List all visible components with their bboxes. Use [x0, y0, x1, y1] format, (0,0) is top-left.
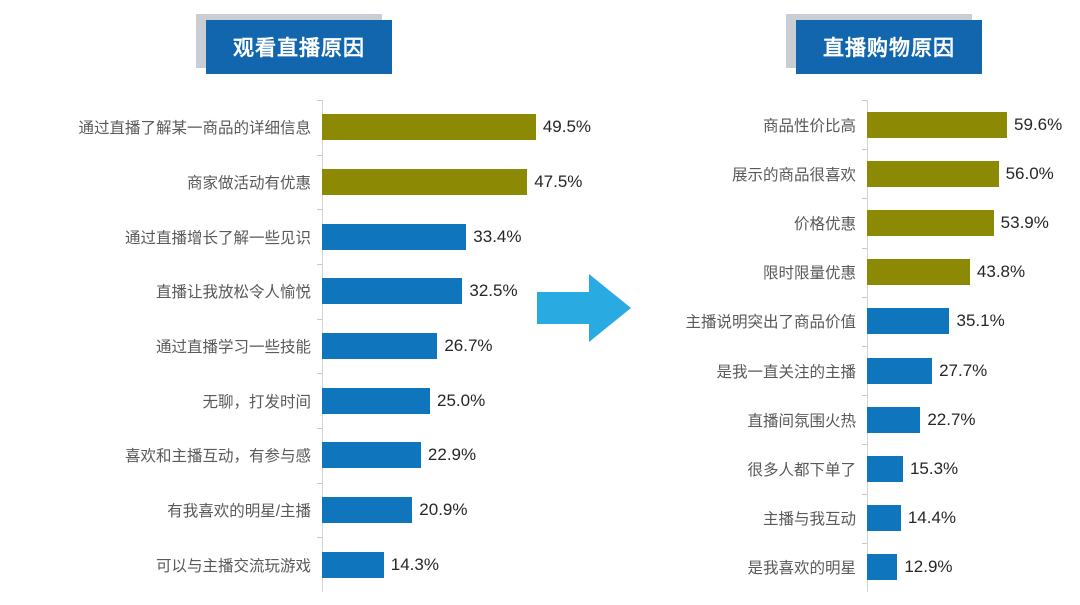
bar	[867, 308, 949, 334]
bar-row: 有我喜欢的明星/主播20.9%	[30, 483, 525, 538]
bar	[322, 497, 412, 523]
category-label: 直播让我放松令人愉悦	[30, 280, 322, 302]
bar-row: 可以与主播交流玩游戏14.3%	[30, 537, 525, 592]
left-title-box: 观看直播原因	[206, 20, 392, 74]
bar	[867, 358, 932, 384]
category-label: 通过直播学习一些技能	[30, 335, 322, 357]
bar-value-label: 27.7%	[939, 361, 987, 381]
bar-value-label: 14.4%	[908, 508, 956, 528]
category-label: 可以与主播交流玩游戏	[30, 554, 322, 576]
bar-track: 27.7%	[867, 346, 1065, 395]
bar-value-label: 53.9%	[1001, 213, 1049, 233]
bar-track: 43.8%	[867, 248, 1065, 297]
category-label: 商家做活动有优惠	[30, 171, 322, 193]
left-plot-area: 通过直播了解某一商品的详细信息49.5%商家做活动有优惠47.5%通过直播增长了…	[30, 100, 525, 592]
left-title-text: 观看直播原因	[233, 32, 365, 62]
arrow-right-icon	[537, 272, 631, 344]
bar	[867, 505, 901, 531]
bar	[867, 259, 970, 285]
bar-row: 直播间氛围火热22.7%	[645, 395, 1065, 444]
category-label: 通过直播增长了解一些见识	[30, 226, 322, 248]
category-label: 展示的商品很喜欢	[645, 163, 867, 185]
bar-row: 展示的商品很喜欢56.0%	[645, 149, 1065, 198]
bar-track: 22.7%	[867, 395, 1065, 444]
bar-value-label: 26.7%	[444, 336, 492, 356]
bar-value-label: 59.6%	[1014, 115, 1062, 135]
right-chart-title-banner: 直播购物原因	[786, 14, 982, 74]
bar-track: 32.5%	[322, 264, 525, 319]
bar-row: 通过直播学习一些技能26.7%	[30, 319, 525, 374]
bar-value-label: 33.4%	[473, 227, 521, 247]
bar-value-label: 56.0%	[1006, 164, 1054, 184]
bar-value-label: 15.3%	[910, 459, 958, 479]
bar-row: 是我一直关注的主播27.7%	[645, 346, 1065, 395]
right-bar-rows: 商品性价比高59.6%展示的商品很喜欢56.0%价格优惠53.9%限时限量优惠4…	[645, 100, 1065, 592]
bar-track: 15.3%	[867, 444, 1065, 493]
category-label: 直播间氛围火热	[645, 409, 867, 431]
slide-canvas: 观看直播原因 直播购物原因 通过直播了解某一商品的详细信息49.5%商家做活动有…	[0, 0, 1080, 605]
category-label: 很多人都下单了	[645, 458, 867, 480]
category-label: 限时限量优惠	[645, 261, 867, 283]
category-label: 商品性价比高	[645, 114, 867, 136]
bar-value-label: 12.9%	[904, 557, 952, 577]
category-label: 主播说明突出了商品价值	[645, 310, 867, 332]
right-title-box: 直播购物原因	[796, 20, 982, 74]
bar-row: 商家做活动有优惠47.5%	[30, 155, 525, 210]
bar-value-label: 25.0%	[437, 391, 485, 411]
bar-track: 47.5%	[322, 155, 582, 210]
bar	[322, 552, 384, 578]
right-bar-chart: 商品性价比高59.6%展示的商品很喜欢56.0%价格优惠53.9%限时限量优惠4…	[645, 100, 1065, 592]
bar-row: 无聊，打发时间25.0%	[30, 373, 525, 428]
bar-row: 通过直播增长了解一些见识33.4%	[30, 209, 525, 264]
right-title-text: 直播购物原因	[823, 32, 955, 62]
bar-track: 14.3%	[322, 537, 525, 592]
bar-row: 价格优惠53.9%	[645, 198, 1065, 247]
bar-track: 20.9%	[322, 483, 525, 538]
bar	[867, 161, 999, 187]
category-label: 是我一直关注的主播	[645, 360, 867, 382]
left-bar-rows: 通过直播了解某一商品的详细信息49.5%商家做活动有优惠47.5%通过直播增长了…	[30, 100, 525, 592]
bar-track: 59.6%	[867, 100, 1065, 149]
bar-track: 25.0%	[322, 373, 525, 428]
bar-row: 直播让我放松令人愉悦32.5%	[30, 264, 525, 319]
bar	[322, 388, 430, 414]
bar-row: 通过直播了解某一商品的详细信息49.5%	[30, 100, 525, 155]
category-label: 无聊，打发时间	[30, 390, 322, 412]
category-label: 是我喜欢的明星	[645, 556, 867, 578]
bar	[322, 224, 466, 250]
bar	[867, 112, 1007, 138]
category-label: 价格优惠	[645, 212, 867, 234]
bar-track: 35.1%	[867, 297, 1065, 346]
bar-track: 56.0%	[867, 149, 1065, 198]
category-label: 主播与我互动	[645, 507, 867, 529]
bar	[867, 456, 903, 482]
bar	[322, 278, 462, 304]
bar-value-label: 43.8%	[977, 262, 1025, 282]
bar-value-label: 47.5%	[534, 172, 582, 192]
category-label: 通过直播了解某一商品的详细信息	[30, 116, 322, 138]
bar-value-label: 32.5%	[469, 281, 517, 301]
category-label: 喜欢和主播互动，有参与感	[30, 444, 322, 466]
bar-track: 26.7%	[322, 319, 525, 374]
bar-row: 主播说明突出了商品价值35.1%	[645, 297, 1065, 346]
bar-value-label: 20.9%	[419, 500, 467, 520]
bar-value-label: 35.1%	[956, 311, 1004, 331]
left-chart-title-banner: 观看直播原因	[196, 14, 392, 74]
bar-track: 22.9%	[322, 428, 525, 483]
left-bar-chart: 通过直播了解某一商品的详细信息49.5%商家做活动有优惠47.5%通过直播增长了…	[30, 100, 525, 592]
bar-track: 12.9%	[867, 543, 1065, 592]
bar-value-label: 14.3%	[391, 555, 439, 575]
right-plot-area: 商品性价比高59.6%展示的商品很喜欢56.0%价格优惠53.9%限时限量优惠4…	[645, 100, 1065, 592]
bar	[867, 210, 994, 236]
bar-track: 14.4%	[867, 494, 1065, 543]
bar-track: 49.5%	[322, 100, 591, 155]
bar-row: 商品性价比高59.6%	[645, 100, 1065, 149]
bar-row: 限时限量优惠43.8%	[645, 248, 1065, 297]
bar-track: 53.9%	[867, 198, 1065, 247]
bar-row: 是我喜欢的明星12.9%	[645, 543, 1065, 592]
bar-track: 33.4%	[322, 209, 525, 264]
bar-value-label: 22.7%	[927, 410, 975, 430]
bar	[322, 333, 437, 359]
bar	[322, 114, 536, 140]
bar	[322, 169, 527, 195]
bar-value-label: 49.5%	[543, 117, 591, 137]
bar	[867, 554, 897, 580]
bar-row: 喜欢和主播互动，有参与感22.9%	[30, 428, 525, 483]
bar	[322, 442, 421, 468]
bar-value-label: 22.9%	[428, 445, 476, 465]
category-label: 有我喜欢的明星/主播	[30, 499, 322, 521]
bar	[867, 407, 920, 433]
bar-row: 很多人都下单了15.3%	[645, 444, 1065, 493]
bar-row: 主播与我互动14.4%	[645, 494, 1065, 543]
